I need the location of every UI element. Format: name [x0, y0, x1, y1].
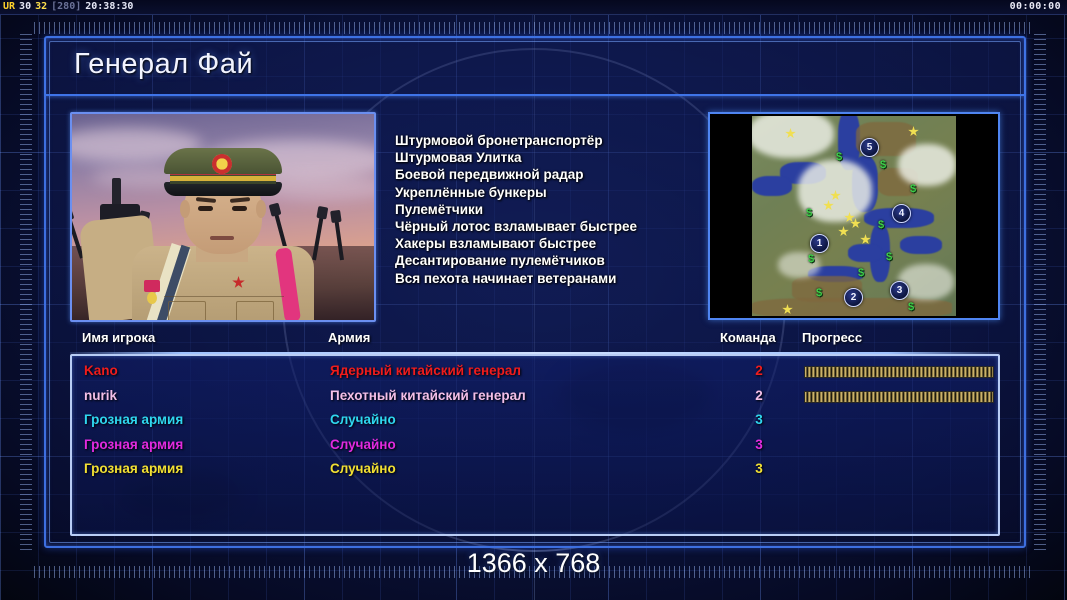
header-army: Армия	[328, 330, 370, 345]
topbar-value-1: 30	[19, 1, 31, 12]
general-info-row: Штурмовой бронетранспортёрШтурмовая Улит…	[70, 112, 1000, 318]
player-army: Случайно	[330, 412, 396, 427]
player-name: Грозная армия	[84, 412, 183, 427]
player-progress	[804, 391, 994, 403]
ability-item: Боевой передвижной радар	[395, 166, 705, 183]
topbar-bracket-value: [280]	[51, 1, 81, 12]
progress-bar-fill	[805, 392, 993, 402]
map-start-position-1[interactable]: 1	[810, 234, 829, 253]
player-list-panel: KanoЯдерный китайский генерал2nurikПехот…	[70, 354, 1000, 536]
map-start-position-5[interactable]: 5	[860, 138, 879, 157]
map-tech-building-marker	[838, 226, 849, 237]
ruler-left	[20, 34, 32, 554]
portrait-uniform-pockets	[164, 296, 284, 320]
ruler-top	[34, 22, 1034, 34]
topbar-clock: 20:38:30	[85, 1, 133, 12]
portrait-ear	[256, 200, 266, 218]
map-preview-inner: $$$$$$$$$$12345	[712, 116, 996, 316]
map-supply-marker: $	[836, 152, 842, 163]
portrait-mouth	[210, 236, 234, 240]
topbar-value-2: 32	[35, 1, 47, 12]
player-team: 3	[747, 412, 771, 427]
player-army: Пехотный китайский генерал	[330, 388, 526, 403]
map-supply-marker: $	[908, 302, 914, 313]
ability-item: Штурмовая Улитка	[395, 149, 705, 166]
player-name: Грозная армия	[84, 461, 183, 476]
portrait-medal	[144, 280, 160, 292]
topbar-right-clock: 00:00:00	[1010, 1, 1061, 12]
portrait-eye	[232, 206, 247, 211]
map-supply-marker: $	[910, 184, 916, 195]
map-supply-marker: $	[808, 254, 814, 265]
top-status-bar: UR 30 32 [280] 20:38:30 00:00:00	[0, 0, 1067, 15]
player-rows: KanoЯдерный китайский генерал2nurikПехот…	[84, 361, 992, 484]
header-team: Команда	[720, 330, 776, 345]
page-title: Генерал Фай	[74, 48, 253, 81]
header-progress: Прогресс	[802, 330, 862, 345]
player-row[interactable]: Грозная армияСлучайно3	[84, 410, 992, 435]
player-name: nurik	[84, 388, 117, 403]
ability-item: Укреплённые бункеры	[395, 184, 705, 201]
portrait-cap-stripe-gold	[170, 176, 276, 181]
player-progress	[804, 415, 994, 427]
main-panel: Генерал Фай	[44, 36, 1026, 548]
resolution-label: 1366 x 768	[0, 548, 1067, 579]
map-supply-marker: $	[880, 160, 886, 171]
player-name: Грозная армия	[84, 437, 183, 452]
map-supply-marker: $	[816, 288, 822, 299]
player-progress	[804, 366, 994, 378]
ability-item: Пулемётчики	[395, 201, 705, 218]
player-team: 3	[747, 461, 771, 476]
player-army: Случайно	[330, 437, 396, 452]
header-player-name: Имя игрока	[82, 330, 155, 345]
player-army: Случайно	[330, 461, 396, 476]
map-supply-marker: $	[878, 220, 884, 231]
map-preview: $$$$$$$$$$12345	[708, 112, 1000, 320]
player-team: 2	[747, 388, 771, 403]
portrait-ear	[180, 200, 190, 218]
general-abilities-list: Штурмовой бронетранспортёрШтурмовая Улит…	[395, 132, 705, 287]
topbar-label: UR	[3, 1, 15, 12]
player-row[interactable]: Грозная армияСлучайно3	[84, 435, 992, 460]
player-progress	[804, 440, 994, 452]
game-lobby-screen: UR 30 32 [280] 20:38:30 00:00:00 Генерал…	[0, 0, 1067, 600]
ability-item: Штурмовой бронетранспортёр	[395, 132, 705, 149]
map-start-position-4[interactable]: 4	[892, 204, 911, 223]
player-row[interactable]: KanoЯдерный китайский генерал2	[84, 361, 992, 386]
portrait-eye	[198, 206, 213, 211]
map-image: $$$$$$$$$$12345	[752, 116, 956, 316]
map-supply-marker: $	[806, 208, 812, 219]
map-supply-marker: $	[858, 268, 864, 279]
ability-item: Чёрный лотос взламывает быстрее	[395, 218, 705, 235]
map-start-position-3[interactable]: 3	[890, 281, 909, 300]
portrait-artwork	[72, 114, 374, 320]
portrait-cap-emblem	[212, 154, 232, 174]
player-name: Kano	[84, 363, 118, 378]
map-supply-marker: $	[886, 252, 892, 263]
ability-item: Десантирование пулемётчиков	[395, 252, 705, 269]
general-portrait	[70, 112, 376, 322]
ruler-right	[1034, 34, 1046, 554]
portrait-cap-brim	[164, 182, 282, 196]
player-row[interactable]: nurikПехотный китайский генерал2	[84, 386, 992, 411]
map-start-position-2[interactable]: 2	[844, 288, 863, 307]
player-row[interactable]: Грозная армияСлучайно3	[84, 459, 992, 484]
player-team: 3	[747, 437, 771, 452]
player-progress	[804, 464, 994, 476]
ability-item: Вся пехота начинает ветеранами	[395, 270, 705, 287]
progress-bar	[804, 391, 994, 403]
progress-bar-fill	[805, 367, 993, 377]
player-army: Ядерный китайский генерал	[330, 363, 521, 378]
player-team: 2	[747, 363, 771, 378]
panel-title-bar: Генерал Фай	[46, 38, 1024, 96]
player-table-header: Имя игрока Армия Команда Прогресс	[70, 330, 1000, 350]
ability-item: Хакеры взламывают быстрее	[395, 235, 705, 252]
progress-bar	[804, 366, 994, 378]
